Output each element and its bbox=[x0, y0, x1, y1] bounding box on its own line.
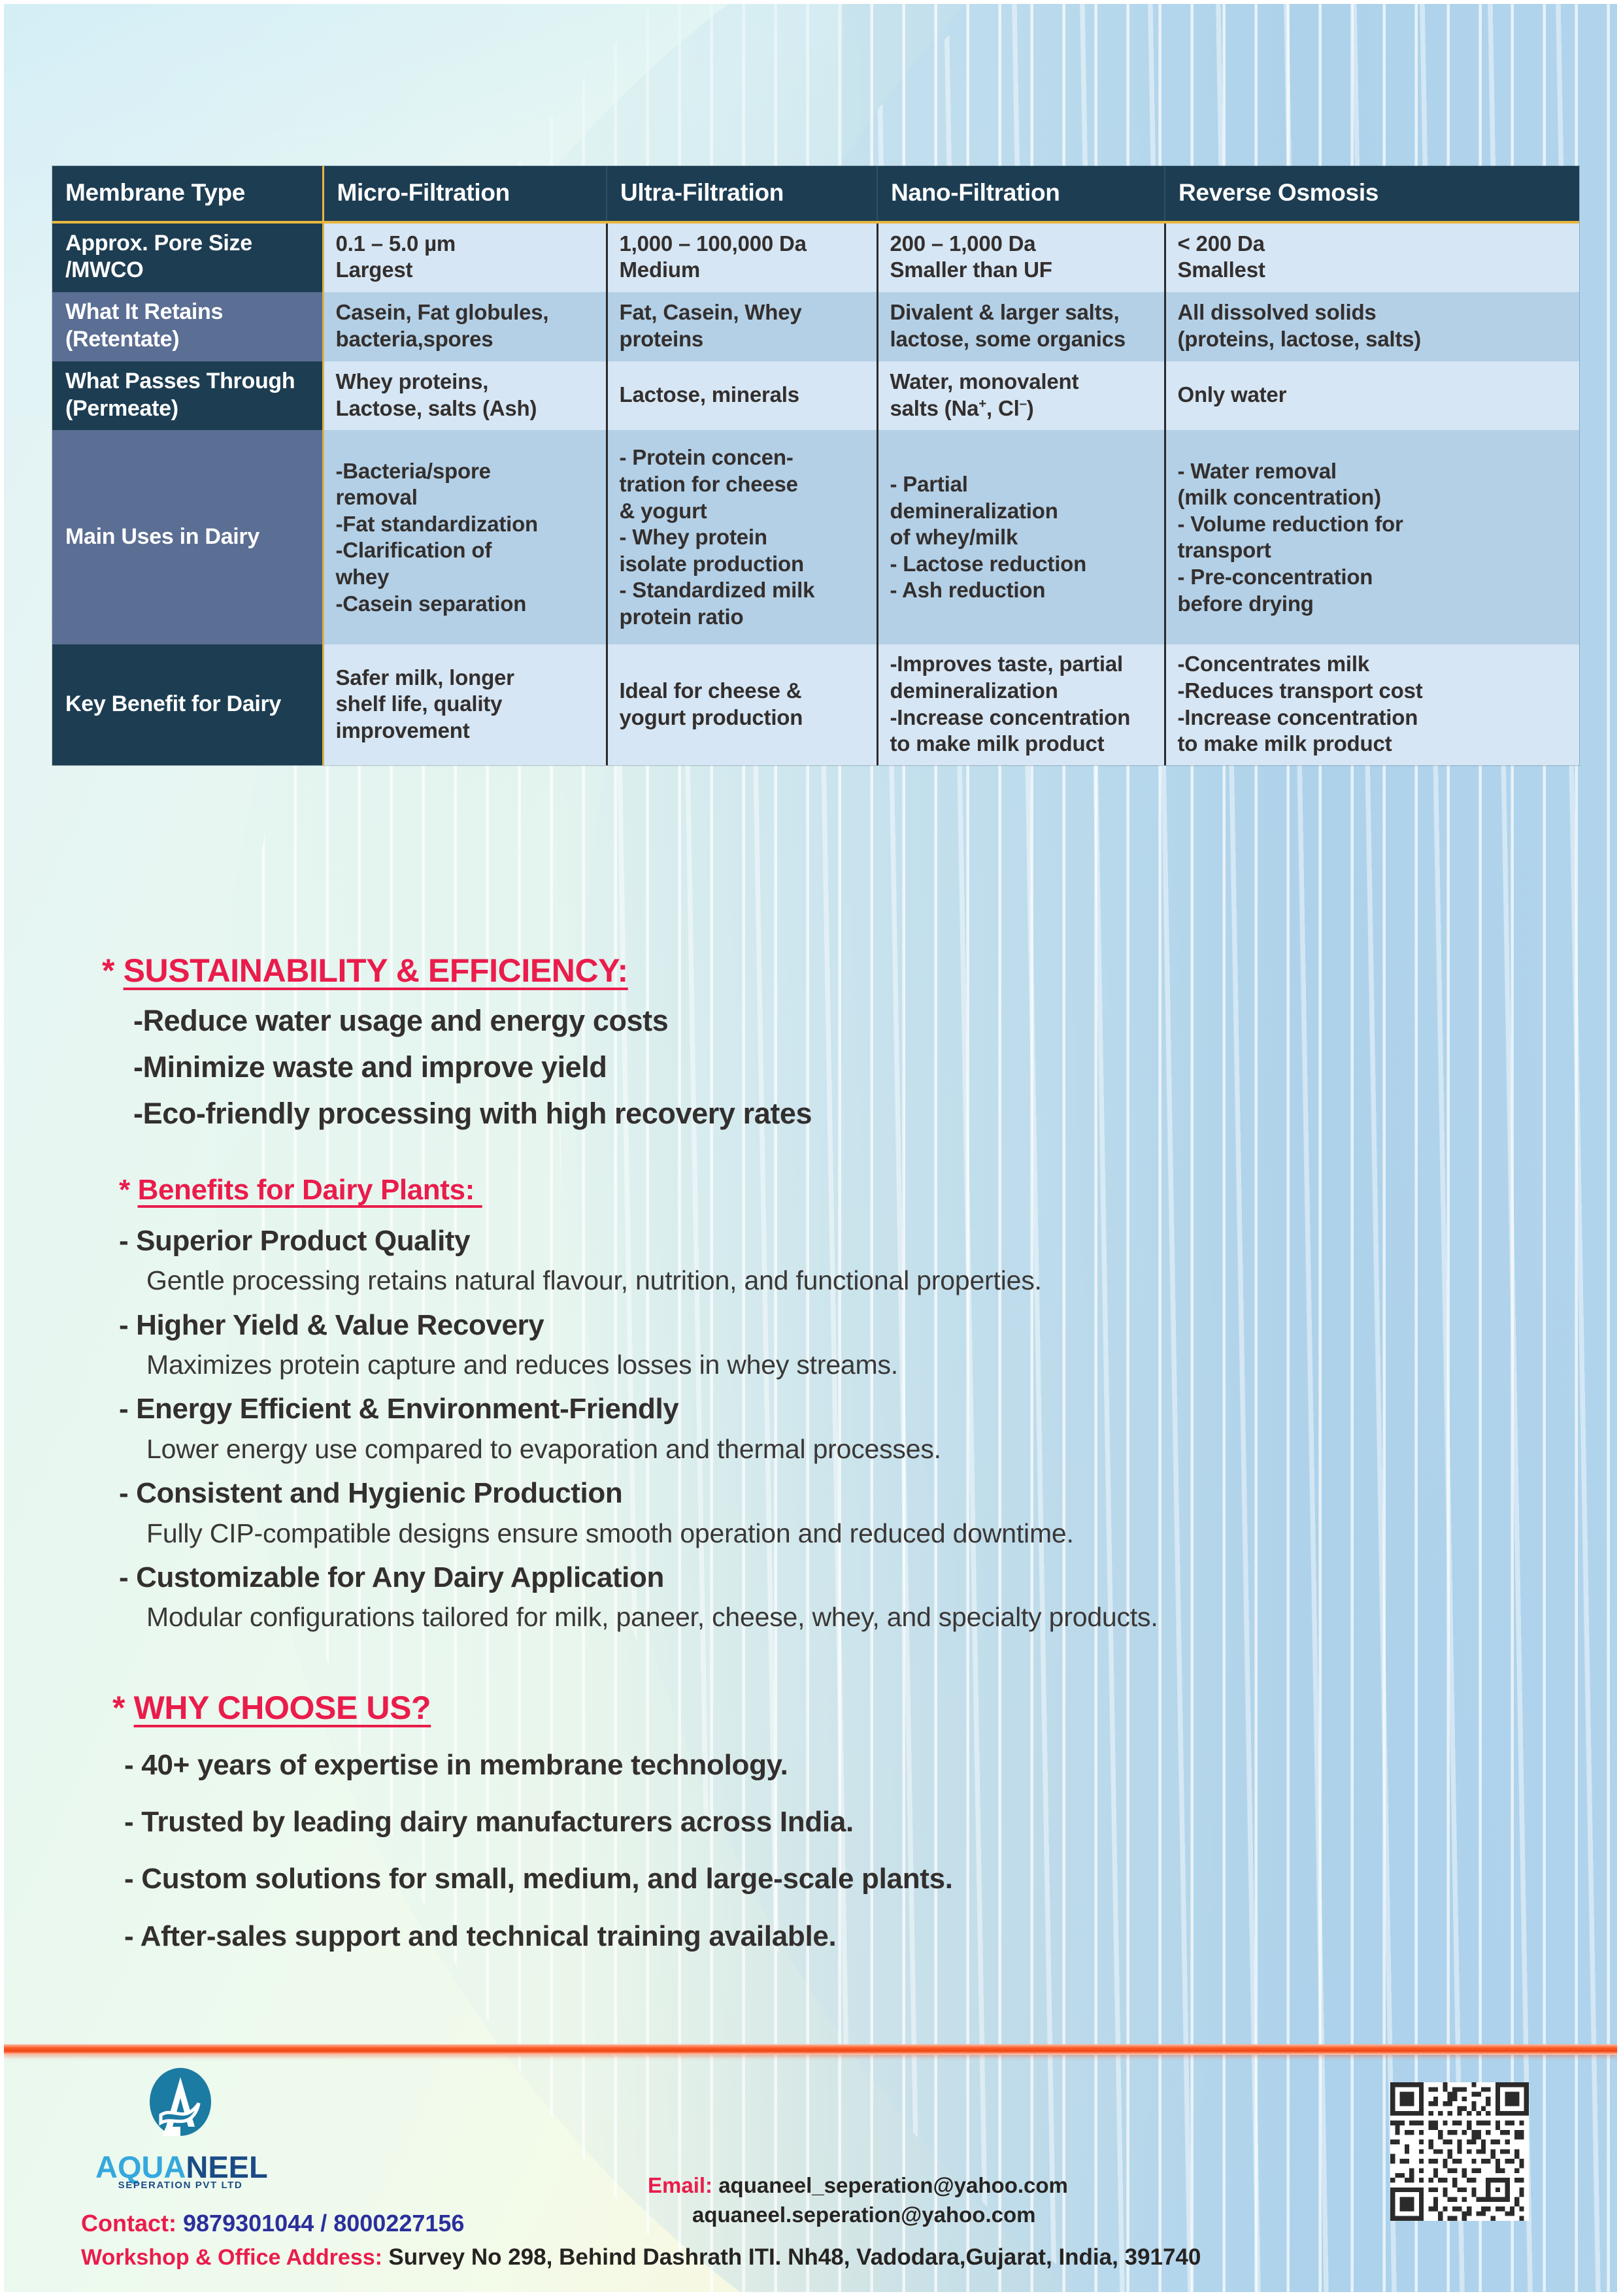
cell-retains-ro: All dissolved solids (proteins, lactose,… bbox=[1165, 292, 1579, 361]
cell-pore-mf: 0.1 – 5.0 µm Largest bbox=[323, 222, 607, 293]
sustainability-heading: * SUSTAINABILITY & EFFICIENCY: bbox=[102, 952, 812, 990]
cell-permeate-nf: Water, monovalentsalts (Na+, Cl–) bbox=[877, 361, 1165, 431]
table-row: Approx. Pore Size /MWCO 0.1 – 5.0 µm Lar… bbox=[52, 222, 1579, 293]
benefit-title: - Energy Efficient & Environment-Friendl… bbox=[119, 1389, 1158, 1429]
cell-retains-nf: Divalent & larger salts, lactose, some o… bbox=[877, 292, 1165, 361]
email-row-primary: Email: aquaneel_seperation@yahoo.com bbox=[648, 2171, 1068, 2201]
aquaneel-logo-icon bbox=[146, 2067, 214, 2150]
why-choose-us-list: - 40+ years of expertise in membrane tec… bbox=[112, 1746, 953, 1955]
benefit-description: Modular configurations tailored for milk… bbox=[146, 1598, 1158, 1636]
benefits-star: * bbox=[119, 1174, 138, 1206]
benefits-heading: * Benefits for Dairy Plants: bbox=[119, 1174, 1158, 1206]
footer-divider bbox=[4, 2044, 1617, 2055]
benefit-description: Maximizes protein capture and reduces lo… bbox=[146, 1346, 1158, 1384]
sustainability-section: * SUSTAINABILITY & EFFICIENCY: -Reduce w… bbox=[102, 952, 812, 1140]
benefit-description: Fully CIP-compatible designs ensure smoo… bbox=[146, 1514, 1158, 1552]
list-item: - Energy Efficient & Environment-Friendl… bbox=[119, 1389, 1158, 1468]
contact-line: Contact: 9879301044 / 8000227156 bbox=[81, 2210, 464, 2237]
cell-uses-uf: - Protein concen- tration for cheese & y… bbox=[607, 430, 877, 644]
benefit-title: - Customizable for Any Dairy Application bbox=[119, 1557, 1158, 1598]
cell-benefit-ro: -Concentrates milk -Reduces transport co… bbox=[1165, 644, 1579, 765]
benefit-description: Gentle processing retains natural flavou… bbox=[146, 1261, 1158, 1299]
table-row: Key Benefit for Dairy Safer milk, longer… bbox=[52, 644, 1579, 765]
list-item: -Reduce water usage and energy costs bbox=[133, 1001, 812, 1041]
table-header-reverse-osmosis: Reverse Osmosis bbox=[1165, 166, 1579, 222]
qr-code[interactable] bbox=[1390, 2082, 1529, 2221]
cell-permeate-uf: Lactose, minerals bbox=[607, 361, 877, 431]
benefit-title: - Superior Product Quality bbox=[119, 1221, 1158, 1261]
list-item: - Customizable for Any Dairy Application… bbox=[119, 1557, 1158, 1637]
row-label-retains: What It Retains (Retentate) bbox=[52, 292, 323, 361]
email-address-secondary[interactable]: aquaneel.seperation@yahoo.com bbox=[692, 2203, 1036, 2227]
email-address-primary[interactable]: aquaneel_seperation@yahoo.com bbox=[718, 2173, 1068, 2197]
table-row: Main Uses in Dairy -Bacteria/spore remov… bbox=[52, 430, 1579, 644]
row-label-pore-size: Approx. Pore Size /MWCO bbox=[52, 222, 323, 293]
cell-permeate-ro: Only water bbox=[1165, 361, 1579, 431]
sustainability-star: * bbox=[102, 952, 124, 989]
cell-uses-ro: - Water removal (milk concentration) - V… bbox=[1165, 430, 1579, 644]
why-choose-us-heading-text: WHY CHOOSE US? bbox=[134, 1689, 431, 1726]
cell-retains-uf: Fat, Casein, Whey proteins bbox=[607, 292, 877, 361]
list-item: - Superior Product Quality Gentle proces… bbox=[119, 1221, 1158, 1300]
why-choose-us-star: * bbox=[112, 1689, 134, 1726]
logo-tagline: SEPERATION PVT LTD bbox=[95, 2180, 265, 2191]
list-item: - Custom solutions for small, medium, an… bbox=[124, 1860, 953, 1897]
contact-label: Contact: bbox=[81, 2210, 183, 2237]
benefits-list: - Superior Product Quality Gentle proces… bbox=[119, 1221, 1158, 1636]
email-row-secondary: aquaneel.seperation@yahoo.com bbox=[692, 2201, 1068, 2230]
row-label-main-uses: Main Uses in Dairy bbox=[52, 430, 323, 644]
company-logo: AQUANEEL SEPERATION PVT LTD bbox=[95, 2067, 265, 2191]
cell-retains-mf: Casein, Fat globules, bacteria,spores bbox=[323, 292, 607, 361]
benefit-title: - Consistent and Hygienic Production bbox=[119, 1473, 1158, 1514]
cell-pore-nf: 200 – 1,000 Da Smaller than UF bbox=[877, 222, 1165, 293]
cell-permeate-mf: Whey proteins, Lactose, salts (Ash) bbox=[323, 361, 607, 431]
qr-code-icon bbox=[1390, 2082, 1529, 2221]
footer: AQUANEEL SEPERATION PVT LTD Contact: 987… bbox=[4, 2055, 1617, 2296]
address-line: Workshop & Office Address: Survey No 298… bbox=[81, 2244, 1201, 2271]
cell-benefit-mf: Safer milk, longer shelf life, quality i… bbox=[323, 644, 607, 765]
logo-wordmark: AQUANEEL bbox=[95, 2152, 265, 2182]
sustainability-heading-text: SUSTAINABILITY & EFFICIENCY: bbox=[124, 952, 628, 989]
list-item: - Trusted by leading dairy manufacturers… bbox=[124, 1803, 953, 1840]
benefit-title: - Higher Yield & Value Recovery bbox=[119, 1305, 1158, 1346]
row-label-permeate: What Passes Through (Permeate) bbox=[52, 361, 323, 431]
table-header-nano-filtration: Nano-Filtration bbox=[877, 166, 1165, 222]
table-row: What Passes Through (Permeate) Whey prot… bbox=[52, 361, 1579, 431]
list-item: - After-sales support and technical trai… bbox=[124, 1918, 953, 1955]
table-header-row: Membrane Type Micro-Filtration Ultra-Fil… bbox=[52, 166, 1579, 222]
table-header-membrane-type: Membrane Type bbox=[52, 166, 323, 222]
address-value: Survey No 298, Behind Dashrath ITI. Nh48… bbox=[388, 2244, 1201, 2270]
sustainability-list: -Reduce water usage and energy costs -Mi… bbox=[102, 1001, 812, 1133]
benefit-description: Lower energy use compared to evaporation… bbox=[146, 1430, 1158, 1468]
email-block: Email: aquaneel_seperation@yahoo.com aqu… bbox=[648, 2171, 1068, 2229]
list-item: - Consistent and Hygienic Production Ful… bbox=[119, 1473, 1158, 1552]
membrane-comparison-table: Membrane Type Micro-Filtration Ultra-Fil… bbox=[52, 166, 1579, 765]
cell-pore-ro: < 200 Da Smallest bbox=[1165, 222, 1579, 293]
cell-benefit-uf: Ideal for cheese & yogurt production bbox=[607, 644, 877, 765]
table-row: What It Retains (Retentate) Casein, Fat … bbox=[52, 292, 1579, 361]
contact-phone-numbers[interactable]: 9879301044 / 8000227156 bbox=[183, 2210, 464, 2237]
cell-pore-uf: 1,000 – 100,000 Da Medium bbox=[607, 222, 877, 293]
list-item: - 40+ years of expertise in membrane tec… bbox=[124, 1746, 953, 1784]
table-header-micro-filtration: Micro-Filtration bbox=[323, 166, 607, 222]
table-header-ultra-filtration: Ultra-Filtration bbox=[607, 166, 877, 222]
cell-uses-mf: -Bacteria/spore removal -Fat standardiza… bbox=[323, 430, 607, 644]
address-label: Workshop & Office Address: bbox=[81, 2245, 388, 2270]
list-item: -Eco-friendly processing with high recov… bbox=[133, 1094, 812, 1134]
list-item: - Higher Yield & Value Recovery Maximize… bbox=[119, 1305, 1158, 1384]
why-choose-us-heading: * WHY CHOOSE US? bbox=[112, 1689, 953, 1727]
benefits-section: * Benefits for Dairy Plants: - Superior … bbox=[119, 1174, 1158, 1641]
poster-page: Membrane Type Micro-Filtration Ultra-Fil… bbox=[0, 0, 1621, 2296]
benefits-heading-text: Benefits for Dairy Plants: bbox=[138, 1174, 482, 1206]
cell-uses-nf: - Partial demineralization of whey/milk … bbox=[877, 430, 1165, 644]
email-label: Email: bbox=[648, 2173, 718, 2197]
cell-benefit-nf: -Improves taste, partial demineralizatio… bbox=[877, 644, 1165, 765]
row-label-key-benefit: Key Benefit for Dairy bbox=[52, 644, 323, 765]
why-choose-us-section: * WHY CHOOSE US? - 40+ years of expertis… bbox=[112, 1689, 953, 1974]
list-item: -Minimize waste and improve yield bbox=[133, 1048, 812, 1088]
